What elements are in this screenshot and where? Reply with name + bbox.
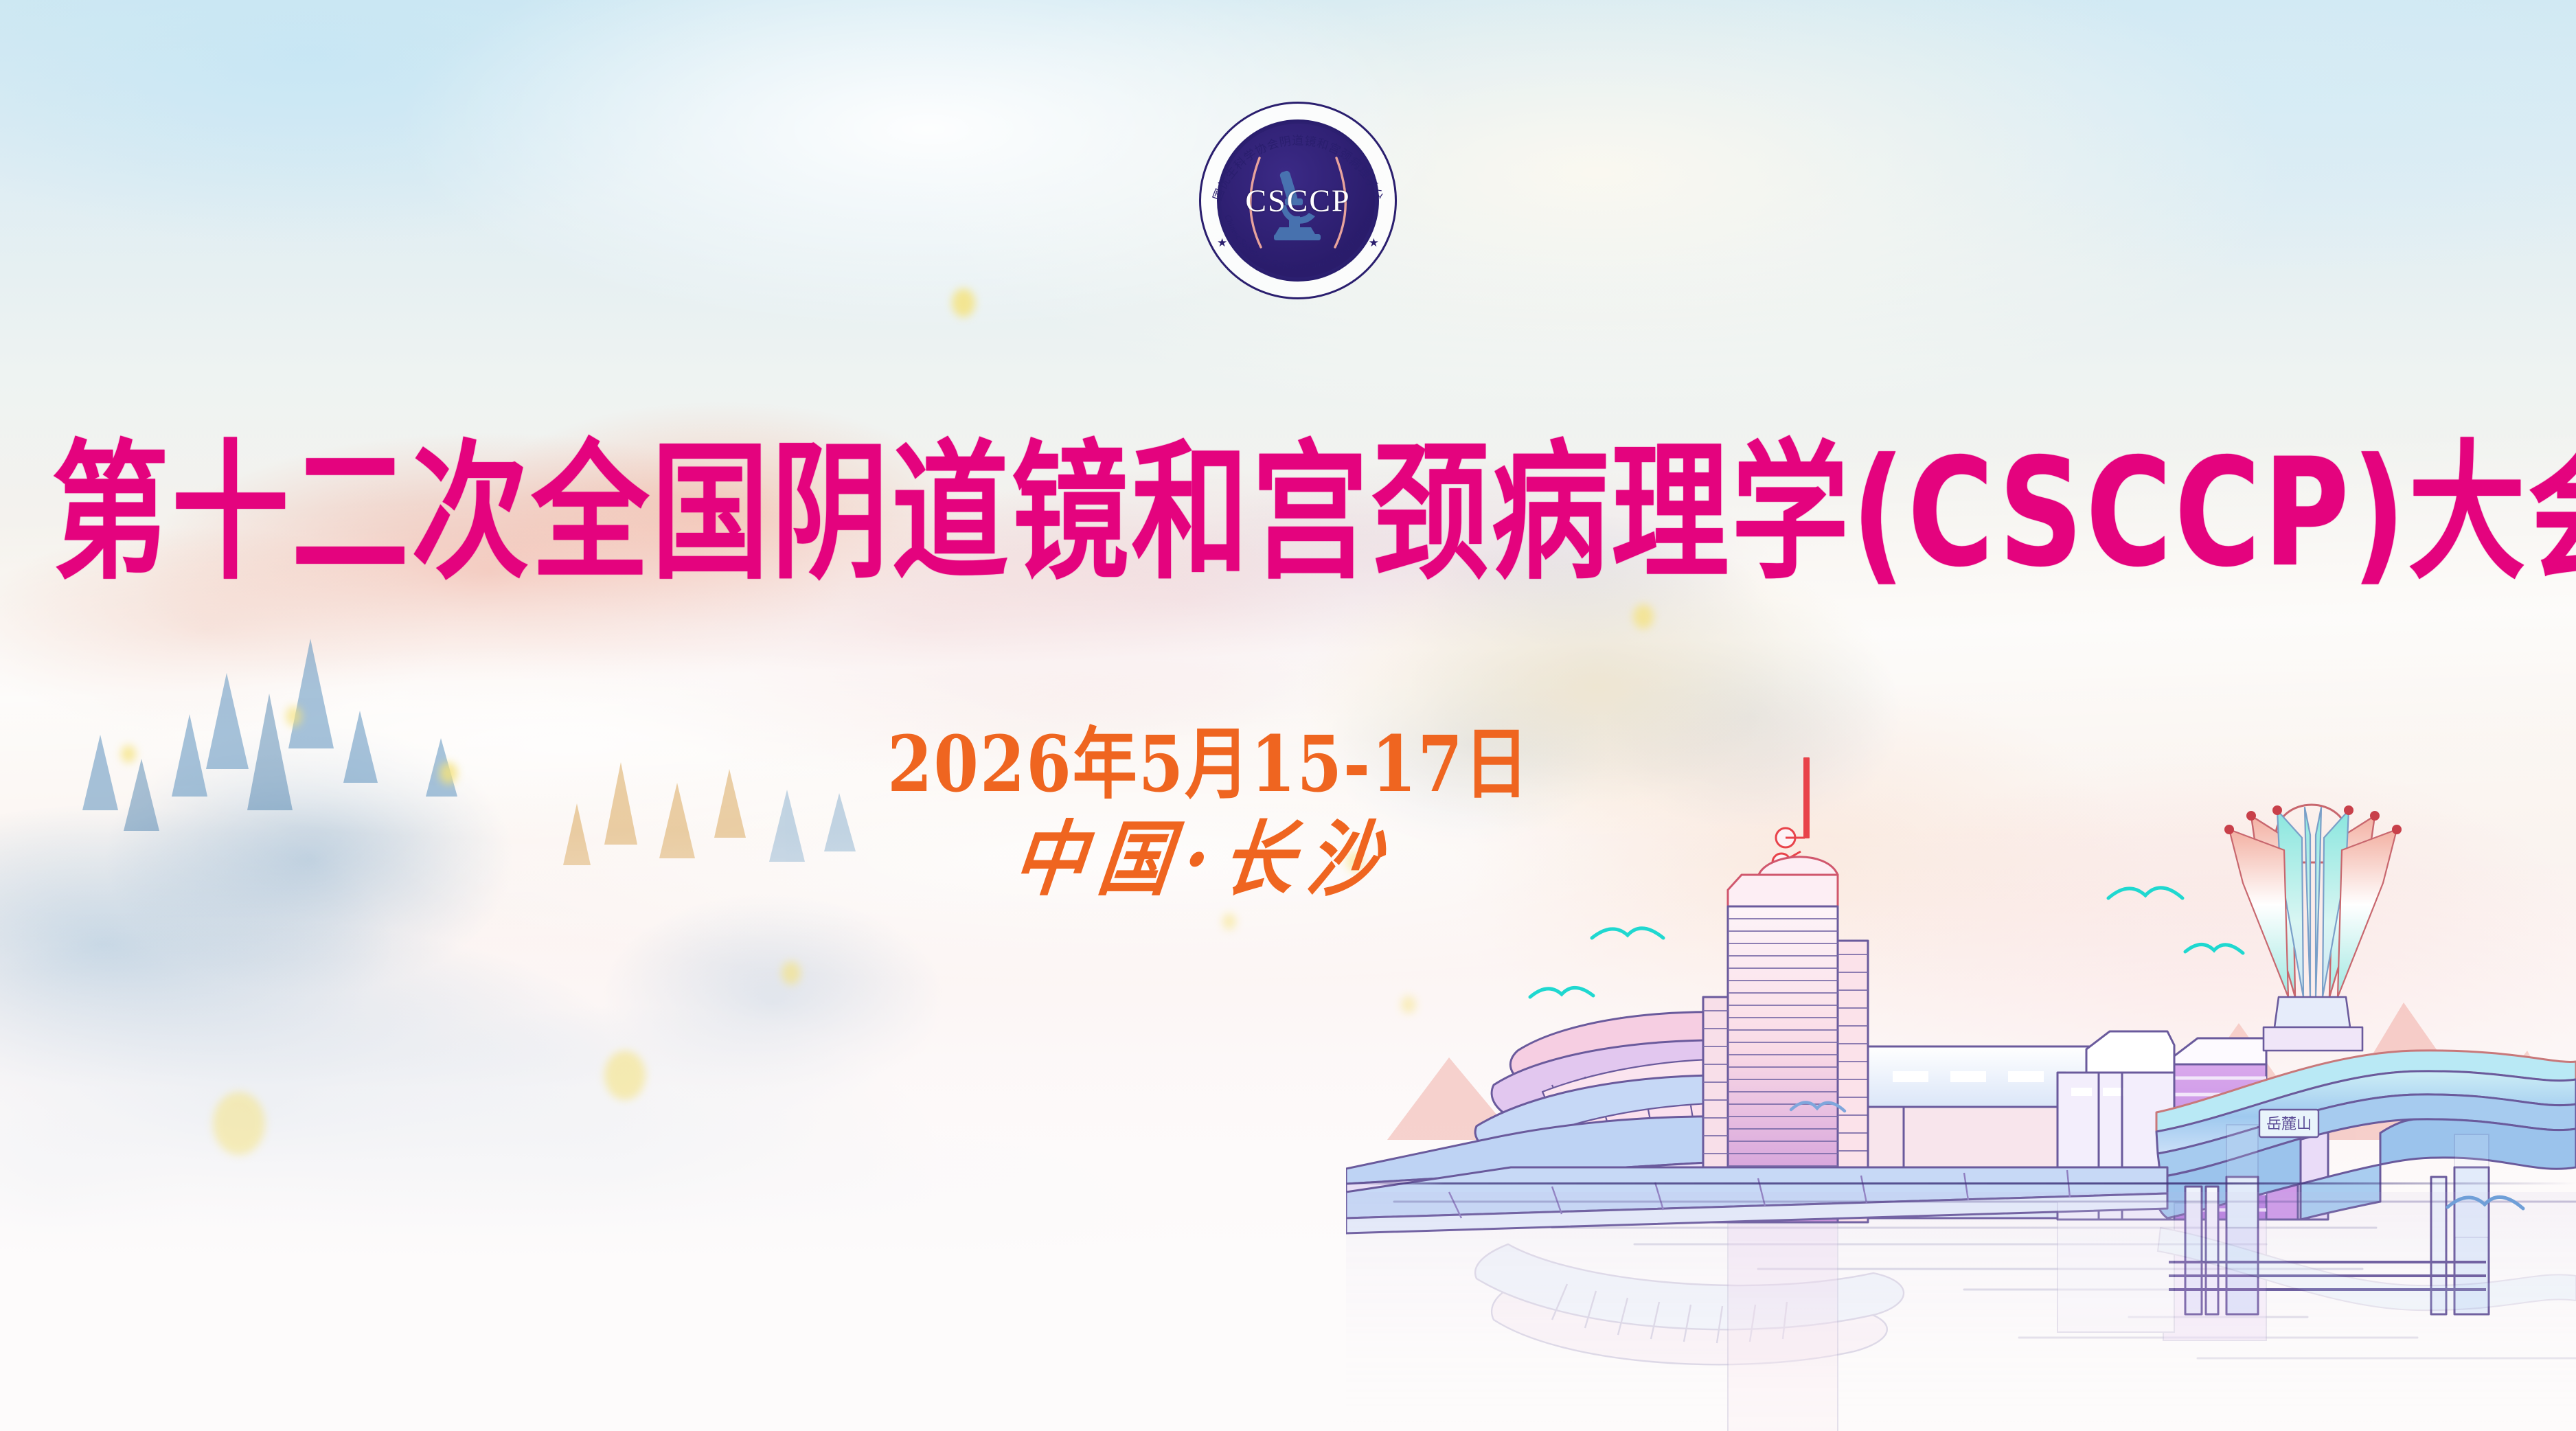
- changsha-skyline-illustration: 岳麓山: [1346, 728, 2576, 1431]
- svg-text:Chinese Society for Colposcopy: Chinese Society for Colposcopy and Cervi…: [1222, 213, 1373, 271]
- cyan-bird-icon: [1592, 928, 1663, 938]
- conference-poster: 中国优生科学协会阴道镜和宫颈病理学分会 Chinese Society for …: [0, 0, 2576, 1431]
- gate-plaque-label: 岳麓山: [2266, 1116, 2312, 1133]
- spark-dot: [952, 288, 975, 317]
- spark-dot: [286, 706, 302, 726]
- cyan-bird-icon: [1530, 987, 1593, 997]
- spark-dot: [1633, 604, 1654, 629]
- spark-dot: [213, 1092, 265, 1155]
- star-right-icon: ★: [1369, 236, 1379, 250]
- poster-title: 第十二次全国阴道镜和宫颈病理学(CSCCP)大会: [52, 439, 2524, 588]
- logo-acronym: CSCCP: [1199, 183, 1397, 219]
- star-left-icon: ★: [1217, 236, 1227, 250]
- csccp-logo: 中国优生科学协会阴道镜和宫颈病理学分会 Chinese Society for …: [1199, 102, 1397, 299]
- spark-dot: [440, 762, 457, 784]
- spark-dot: [782, 961, 801, 985]
- fountain-sculpture: [2224, 805, 2402, 1051]
- ifs-tower: [1703, 758, 1868, 1222]
- cyan-bird-icon: [2108, 888, 2182, 898]
- cyan-bird-icon: [2185, 944, 2243, 953]
- spark-dot: [604, 1051, 646, 1100]
- logo-english-arc-label: Chinese Society for Colposcopy and Cervi…: [1222, 213, 1373, 271]
- waterline: [1346, 1182, 2576, 1184]
- spark-dot: [1222, 913, 1236, 930]
- spark-dot: [121, 745, 136, 763]
